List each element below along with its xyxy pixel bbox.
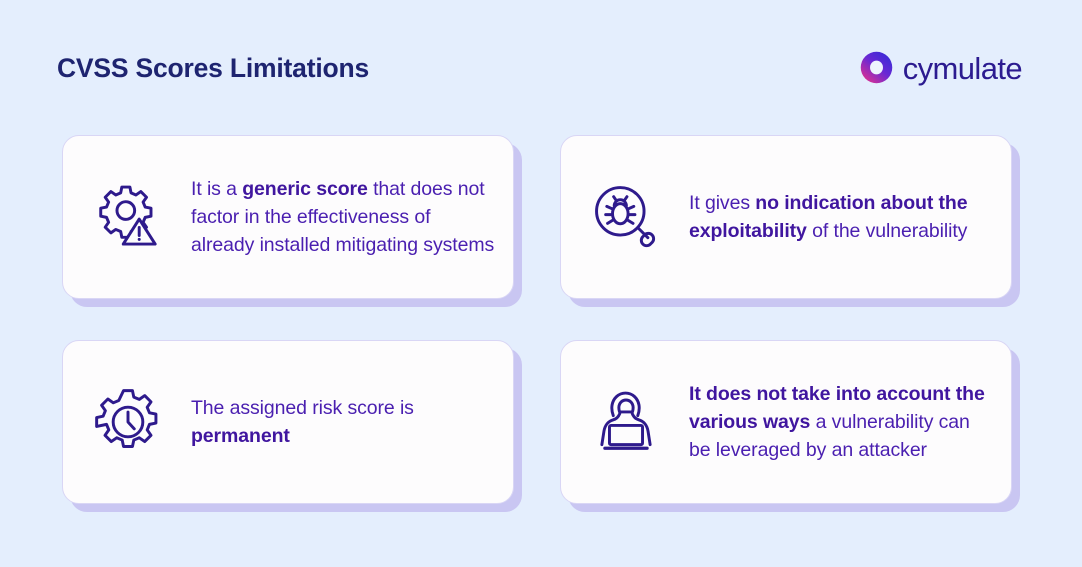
cymulate-wordmark: cymulate <box>903 53 1022 84</box>
card-body: The assigned risk score is permanent <box>62 340 514 504</box>
card-text-segments: The assigned risk score is permanent <box>191 397 414 447</box>
limitation-card-generic-score: It is a generic score that does not fact… <box>62 135 514 299</box>
card-body: It does not take into account the variou… <box>560 340 1012 504</box>
card-text-segments: It does not take into account the variou… <box>689 383 985 461</box>
infographic-page: CVSS Scores Limitations cymulate <box>0 0 1082 567</box>
cymulate-logo: cymulate <box>859 50 1022 85</box>
gear-warning-icon <box>85 174 171 260</box>
card-text: It gives no indication about the exploit… <box>689 189 995 245</box>
page-title: CVSS Scores Limitations <box>57 53 369 84</box>
card-body: It is a generic score that does not fact… <box>62 135 514 299</box>
cymulate-ring-icon <box>859 50 894 85</box>
card-text: It is a generic score that does not fact… <box>191 175 497 260</box>
limitation-card-permanent-score: The assigned risk score is permanent <box>62 340 514 504</box>
card-text-segments: It gives no indication about the exploit… <box>689 192 967 242</box>
gear-clock-icon <box>85 379 171 465</box>
limitation-card-exploitability: It gives no indication about the exploit… <box>560 135 1012 299</box>
hacker-laptop-icon <box>583 379 669 465</box>
limitation-card-attack-ways: It does not take into account the variou… <box>560 340 1012 504</box>
bug-magnifier-icon <box>583 174 669 260</box>
card-text-segments: It is a generic score that does not fact… <box>191 178 494 256</box>
header: CVSS Scores Limitations cymulate <box>0 0 1082 120</box>
card-text: It does not take into account the variou… <box>689 380 995 465</box>
card-text: The assigned risk score is permanent <box>191 394 497 450</box>
card-body: It gives no indication about the exploit… <box>560 135 1012 299</box>
limitation-card-grid: It is a generic score that does not fact… <box>62 135 1022 504</box>
